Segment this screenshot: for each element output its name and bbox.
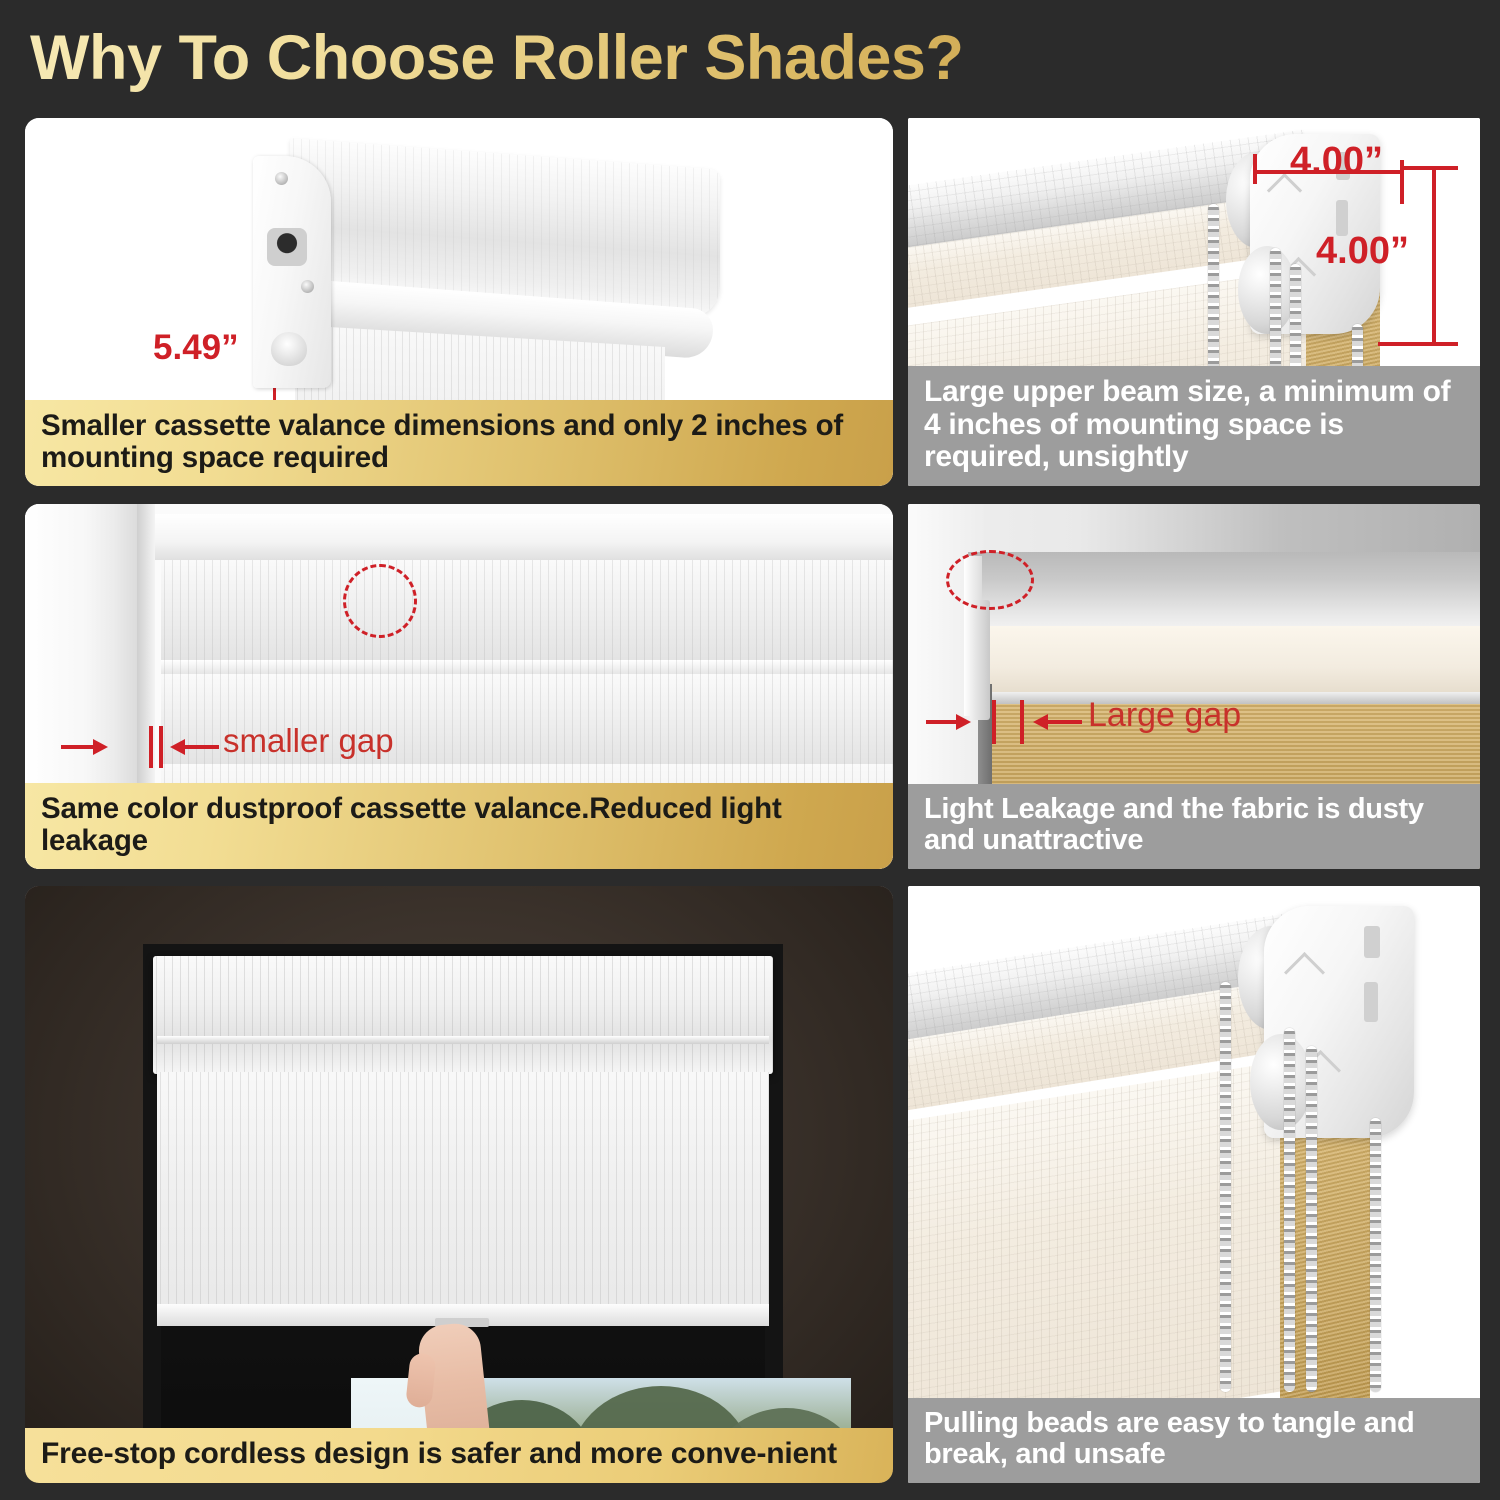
panel-grid: 5.49” 2.06” [25, 118, 1480, 1483]
beam-height-label: 4.00” [1316, 230, 1409, 273]
panel-5-illustration [25, 886, 893, 1483]
panel-1-caption: Smaller cassette valance dimensions and … [25, 400, 893, 486]
valance-knob-icon [271, 332, 307, 366]
roller-shade-fabric [157, 1072, 769, 1318]
smaller-gap-label: smaller gap [223, 722, 394, 760]
panel-pulling-beads: Pulling beads are easy to tangle and bre… [908, 886, 1480, 1483]
gap-highlight-circle [343, 564, 417, 638]
gap-highlight-circle [946, 550, 1034, 610]
white-shade-fabric [908, 1059, 1298, 1456]
panel-5-caption: Free-stop cordless design is safer and m… [25, 1428, 893, 1483]
infographic-page: Why To Choose Roller Shades? 5.49” 2.06” [0, 0, 1500, 1500]
panel-dustproof-valance: smaller gap Same color dustproof cassett… [25, 504, 893, 869]
bead-chain[interactable] [1220, 982, 1231, 1392]
panel-4-caption: Light Leakage and the fabric is dusty an… [908, 784, 1480, 869]
panel-6-caption: Pulling beads are easy to tangle and bre… [908, 1398, 1480, 1483]
panel-3-caption: Same color dustproof cassette valance.Re… [25, 783, 893, 869]
large-gap-label: Large gap [1088, 696, 1241, 735]
gap-marker-left [992, 700, 996, 744]
panel-cassette-dimensions: 5.49” 2.06” [25, 118, 893, 486]
panel-6-illustration [908, 886, 1480, 1483]
bead-chain[interactable] [1370, 1118, 1381, 1392]
gap-marker-right [159, 726, 163, 768]
gap-marker-right [1020, 700, 1024, 744]
bead-chain[interactable] [1284, 1028, 1295, 1392]
panel-cordless-design: Free-stop cordless design is safer and m… [25, 886, 893, 1483]
panel-large-upper-beam: 4.00” 4.00” Large upper beam size, a min… [908, 118, 1480, 486]
panel-light-leakage: Large gap Light Leakage and the fabric i… [908, 504, 1480, 869]
valance-mechanism-icon [267, 228, 307, 266]
beam-width-label: 4.00” [1290, 140, 1383, 183]
bead-chain[interactable] [1306, 1046, 1317, 1392]
cassette-head-rail [153, 956, 773, 1074]
gap-marker-left [149, 726, 153, 768]
cassette-valance-product [195, 146, 715, 376]
beam-height-dim-line [1432, 166, 1436, 346]
page-title: Why To Choose Roller Shades? [30, 18, 1230, 98]
panel-2-caption: Large upper beam size, a minimum of 4 in… [908, 366, 1480, 486]
valance-end-cap [253, 156, 331, 388]
